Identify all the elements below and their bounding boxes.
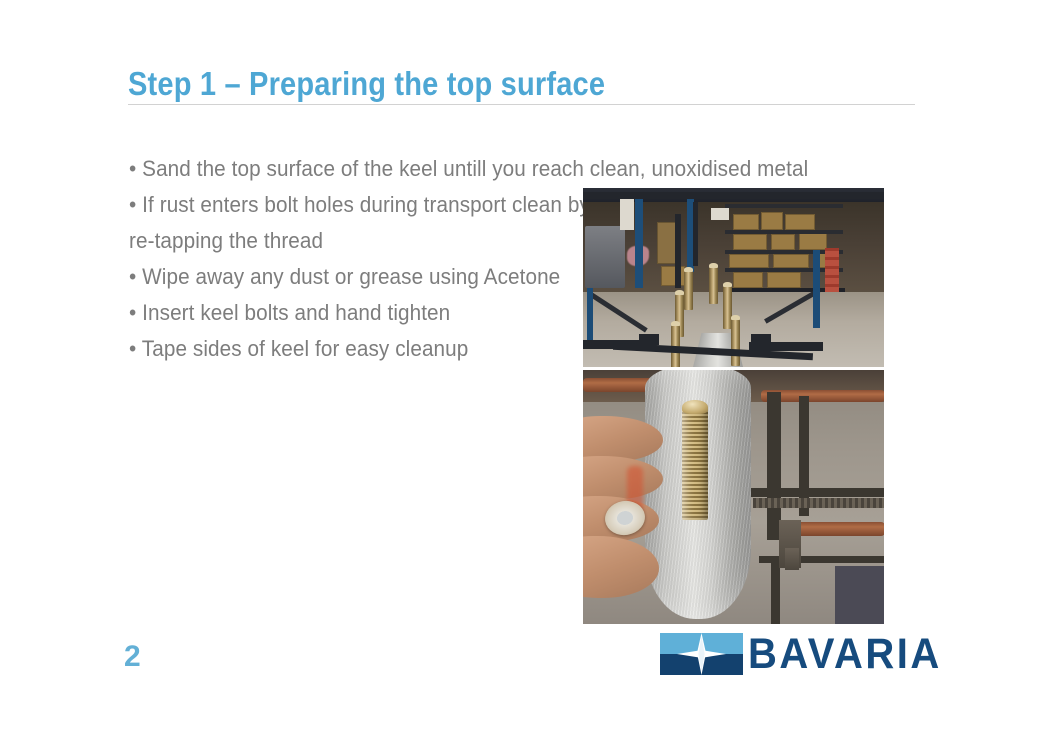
compass-star-icon bbox=[660, 633, 743, 675]
page-title: Step 1 – Preparing the top surface bbox=[128, 64, 823, 104]
photo-detail-box bbox=[785, 214, 815, 230]
photo-detail-shelf-rail bbox=[725, 204, 843, 208]
photo-keel-bolts-in-workshop bbox=[583, 188, 884, 367]
bavaria-star-icon bbox=[660, 633, 743, 675]
photo-detail-box bbox=[771, 234, 795, 250]
photo-detail-box bbox=[733, 234, 767, 250]
photo-detail-paper-sign bbox=[711, 208, 729, 220]
photo-detail-keel-bolt bbox=[731, 318, 740, 366]
list-item: • Tape sides of keel for easy cleanup bbox=[129, 331, 561, 367]
photo-detail-box bbox=[799, 232, 827, 250]
photo-detail-rack-post bbox=[635, 196, 643, 288]
bavaria-logo: BAVARIA bbox=[660, 632, 942, 676]
photo-detail-machine bbox=[585, 226, 625, 288]
photo-detail-beam bbox=[583, 192, 884, 199]
photo-detail-cradle-foot bbox=[639, 334, 659, 345]
photo-detail-beam bbox=[693, 202, 698, 266]
photo-detail-beam bbox=[675, 214, 681, 288]
photo-detail-frame-bar bbox=[767, 392, 781, 540]
photo-detail-box bbox=[733, 272, 763, 288]
photo-detail-box bbox=[733, 214, 759, 230]
slide: Step 1 – Preparing the top surface • San… bbox=[0, 0, 1042, 736]
photo-detail-paper-sign bbox=[620, 196, 634, 230]
photo-detail-rack-teeth bbox=[753, 498, 884, 508]
bullet-list: • Sand the top surface of the keel until… bbox=[129, 151, 599, 367]
photo-detail-box bbox=[729, 254, 769, 268]
photo-detail-cradle-leg bbox=[587, 288, 593, 346]
photo-detail-cradle-leg bbox=[813, 250, 820, 328]
photo-hand-with-tape-and-keel-bolt bbox=[583, 370, 884, 624]
list-item: • If rust enters bolt holes during trans… bbox=[129, 187, 561, 223]
title-divider bbox=[128, 104, 915, 105]
list-item: • Sand the top surface of the keel until… bbox=[129, 151, 561, 187]
photo-detail-keel-bolt-tip bbox=[682, 400, 708, 414]
photo-detail-cradle-foot bbox=[751, 334, 771, 345]
photo-detail-box bbox=[773, 254, 809, 268]
photo-detail-frame-bar bbox=[749, 488, 884, 497]
list-item-continuation: re-tapping the thread bbox=[129, 223, 561, 259]
list-item: • Wipe away any dust or grease using Ace… bbox=[129, 259, 561, 295]
photo-detail-keel-bolt-main bbox=[682, 408, 708, 520]
photo-detail-box bbox=[661, 266, 685, 286]
list-item: • Insert keel bolts and hand tighten bbox=[129, 295, 561, 331]
page-number: 2 bbox=[124, 640, 141, 674]
photo-detail-frame-bar bbox=[835, 566, 884, 624]
photo-detail-keel-bolt bbox=[684, 270, 693, 310]
photo-detail-keel-bolt bbox=[709, 266, 718, 304]
photo-detail-box bbox=[657, 222, 677, 264]
photo-detail-frame-bar bbox=[771, 562, 780, 624]
photo-detail-box bbox=[767, 272, 801, 288]
photo-detail-shelf-rail bbox=[725, 230, 843, 234]
photo-detail-clamp-handle bbox=[785, 548, 799, 570]
photo-detail-box bbox=[761, 212, 783, 230]
bavaria-wordmark: BAVARIA bbox=[748, 632, 942, 677]
